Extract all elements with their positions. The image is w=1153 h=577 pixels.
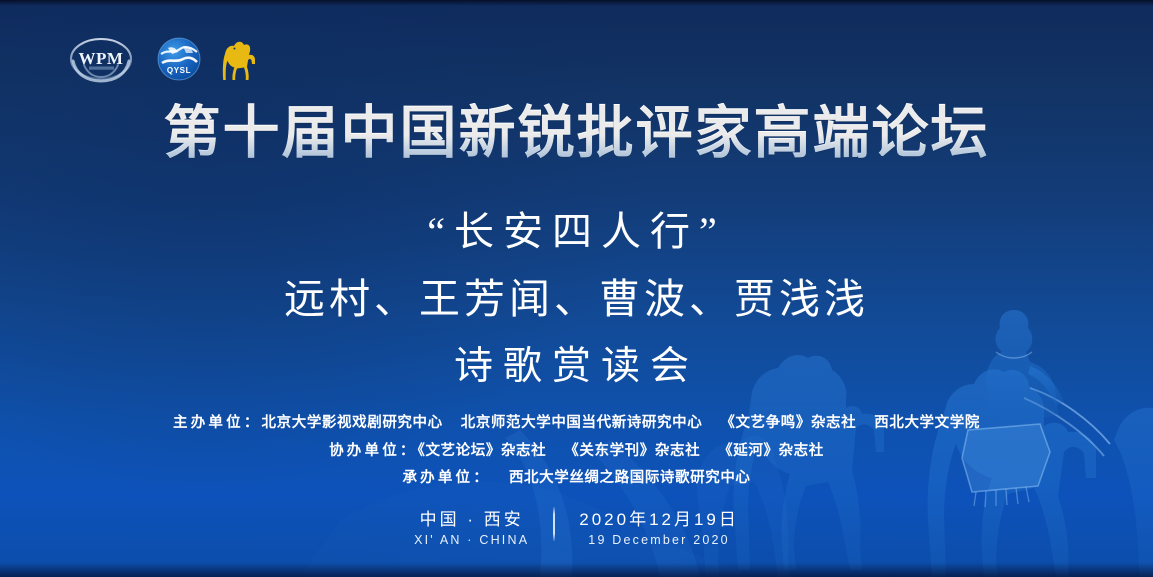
footer-date: 2020年12月19日 19 December 2020: [555, 505, 763, 547]
organizer-label-coorganizer: 协办单位：: [329, 443, 418, 459]
footer-date-cn: 2020年12月19日: [579, 505, 739, 530]
logo-strip: WPM QYSL: [62, 36, 258, 86]
footer-location-cn: 中国 · 西安: [420, 505, 524, 530]
organizer-line-undertaker: 承办单位：西北大学丝绸之路国际诗歌研究中心: [0, 466, 1153, 487]
organizer-under-0: 西北大学丝绸之路国际诗歌研究中心: [509, 470, 751, 486]
qysl-logo-text: QYSL: [167, 66, 191, 75]
organizer-label-undertaker: 承办单位：: [402, 470, 491, 486]
organizer-label-host: 主办单位：: [173, 415, 262, 431]
organizer-co-2: 《延河》杂志社: [718, 443, 824, 459]
organizer-co-0: 《文艺论坛》杂志社: [418, 443, 547, 459]
wpm-logo: WPM: [62, 35, 140, 88]
wpm-logo-text: WPM: [79, 49, 124, 68]
qysl-globe-logo: QYSL: [156, 36, 202, 87]
footer-location: 中国 · 西安 XI' AN · CHINA: [390, 505, 553, 547]
footer-date-en: 19 December 2020: [588, 533, 730, 547]
poet-names: 远村、王芳闻、曹波、贾浅浅: [0, 265, 1153, 325]
organizer-host-1: 北京师范大学中国当代新诗研究中心: [461, 415, 703, 431]
organizer-host-0: 北京大学影视戏剧研究中心: [262, 415, 443, 431]
page-title: 第十届中国新锐批评家高端论坛: [0, 103, 1153, 165]
bottom-edge-shading: [0, 563, 1153, 577]
organizer-co-1: 《关东学刊》杂志社: [564, 443, 700, 459]
organizer-line-host: 主办单位：北京大学影视戏剧研究中心北京师范大学中国当代新诗研究中心《文艺争鸣》杂…: [0, 411, 1153, 432]
poster-subtitle: “长安四人行”: [0, 199, 1153, 257]
event-name: 诗歌赏读会: [0, 335, 1153, 391]
gold-camel-logo: [218, 36, 258, 87]
organizer-line-coorganizer: 协办单位：《文艺论坛》杂志社《关东学刊》杂志社《延河》杂志社: [0, 439, 1153, 460]
organizer-host-3: 西北大学文学院: [874, 415, 980, 431]
poster-footer: 中国 · 西安 XI' AN · CHINA 2020年12月19日 19 De…: [0, 505, 1153, 547]
poster-canvas: WPM QYSL: [0, 0, 1153, 577]
top-edge-shading: [0, 0, 1153, 6]
organizer-host-2: 《文艺争鸣》杂志社: [720, 415, 856, 431]
footer-location-en: XI' AN · CHINA: [414, 533, 529, 547]
